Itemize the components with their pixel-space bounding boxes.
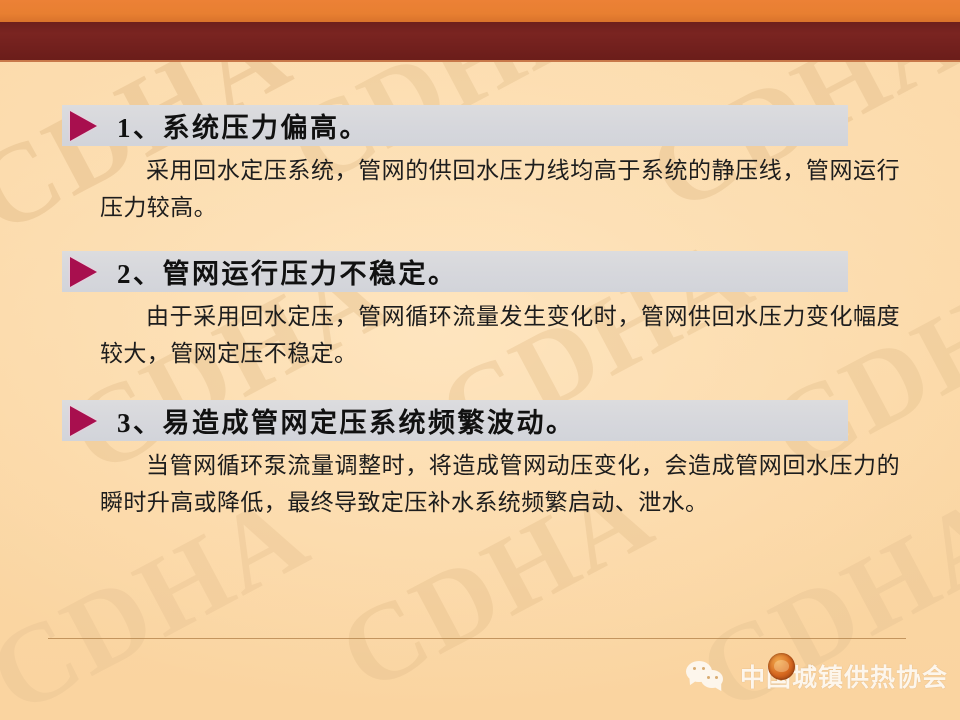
top-banner-maroon [0, 22, 960, 62]
footer-brand: 中国城镇供热协会 [686, 652, 936, 700]
section-2-heading-band: 2、管网运行压力不稳定。 [62, 251, 848, 292]
section-2-body: 由于采用回水定压，管网循环流量发生变化时，管网供回水压力变化幅度较大，管网定压不… [100, 298, 900, 372]
section-3: 3、易造成管网定压系统频繁波动。 当管网循环泵流量调整时，将造成管网动压变化，会… [0, 400, 960, 521]
triangle-bullet-icon [70, 406, 97, 436]
section-3-heading: 3、易造成管网定压系统频繁波动。 [117, 401, 576, 440]
triangle-bullet-icon [70, 257, 97, 287]
section-1-body: 采用回水定压系统，管网的供回水压力线均高于系统的静压线，管网运行压力较高。 [100, 152, 900, 226]
section-3-heading-band: 3、易造成管网定压系统频繁波动。 [62, 400, 848, 441]
footer-divider [48, 638, 906, 639]
section-3-body: 当管网循环泵流量调整时，将造成管网动压变化，会造成管网回水压力的瞬时升高或降低，… [100, 447, 900, 521]
wechat-icon [686, 660, 728, 692]
triangle-bullet-icon [70, 111, 97, 141]
section-2: 2、管网运行压力不稳定。 由于采用回水定压，管网循环流量发生变化时，管网供回水压… [0, 251, 960, 372]
slide-content: 1、系统压力偏高。 采用回水定压系统，管网的供回水压力线均高于系统的静压线，管网… [0, 60, 960, 620]
slide-canvas: CDHA CDHA CDHA CDHA CDHA CDHA CDHA CDHA … [0, 0, 960, 720]
section-1: 1、系统压力偏高。 采用回水定压系统，管网的供回水压力线均高于系统的静压线，管网… [0, 105, 960, 226]
section-2-heading: 2、管网运行压力不稳定。 [117, 252, 458, 291]
association-emblem-icon [768, 653, 795, 680]
section-1-heading: 1、系统压力偏高。 [117, 106, 369, 145]
top-banner-orange [0, 0, 960, 22]
section-1-heading-band: 1、系统压力偏高。 [62, 105, 848, 146]
